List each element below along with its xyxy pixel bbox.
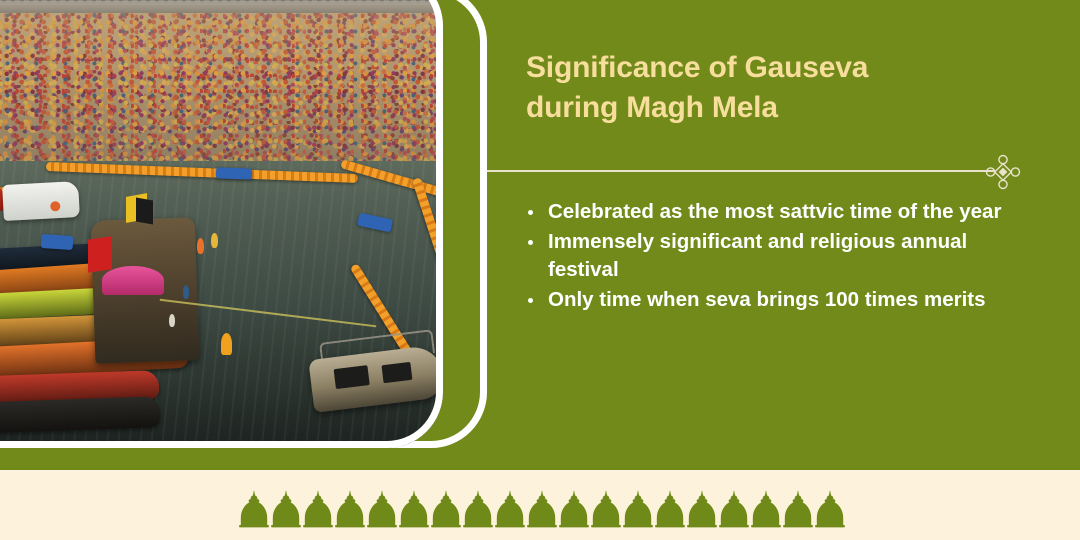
- page-title: Significance of Gauseva during Magh Mela: [526, 48, 996, 128]
- divider: [487, 170, 1011, 172]
- background-bridge-deck: [0, 1, 443, 13]
- text-content-column: Significance of Gauseva during Magh Mela…: [490, 0, 1080, 470]
- divider-line: [487, 170, 995, 172]
- crowd-shading: [0, 13, 443, 171]
- bather: [221, 333, 232, 355]
- boat-canopy: [102, 266, 163, 295]
- slide-root: Significance of Gauseva during Magh Mela…: [0, 0, 1080, 540]
- title-line-2: during Magh Mela: [526, 91, 778, 124]
- footer-band: [0, 470, 1080, 540]
- list-item: Immensely significant and religious annu…: [518, 228, 1038, 285]
- bather: [183, 285, 189, 299]
- white-motorboat: [2, 181, 79, 221]
- bullet-list: Celebrated as the most sattvic time of t…: [518, 198, 1038, 316]
- bather: [197, 238, 204, 254]
- magh-mela-photo: [0, 0, 443, 448]
- list-item: Only time when seva brings 100 times mer…: [518, 286, 1038, 315]
- bather: [169, 314, 175, 327]
- blue-barge: [216, 167, 252, 179]
- list-item: Celebrated as the most sattvic time of t…: [518, 198, 1038, 227]
- temple-dome-border: [238, 490, 846, 528]
- blue-barge: [40, 234, 73, 250]
- knot-diamond-ornament: [985, 154, 1021, 190]
- title-line-1: Significance of Gauseva: [526, 51, 868, 84]
- boat-flag: [88, 236, 112, 273]
- boat-flag: [136, 198, 153, 225]
- bather: [211, 233, 218, 248]
- photo-canvas: [0, 0, 443, 448]
